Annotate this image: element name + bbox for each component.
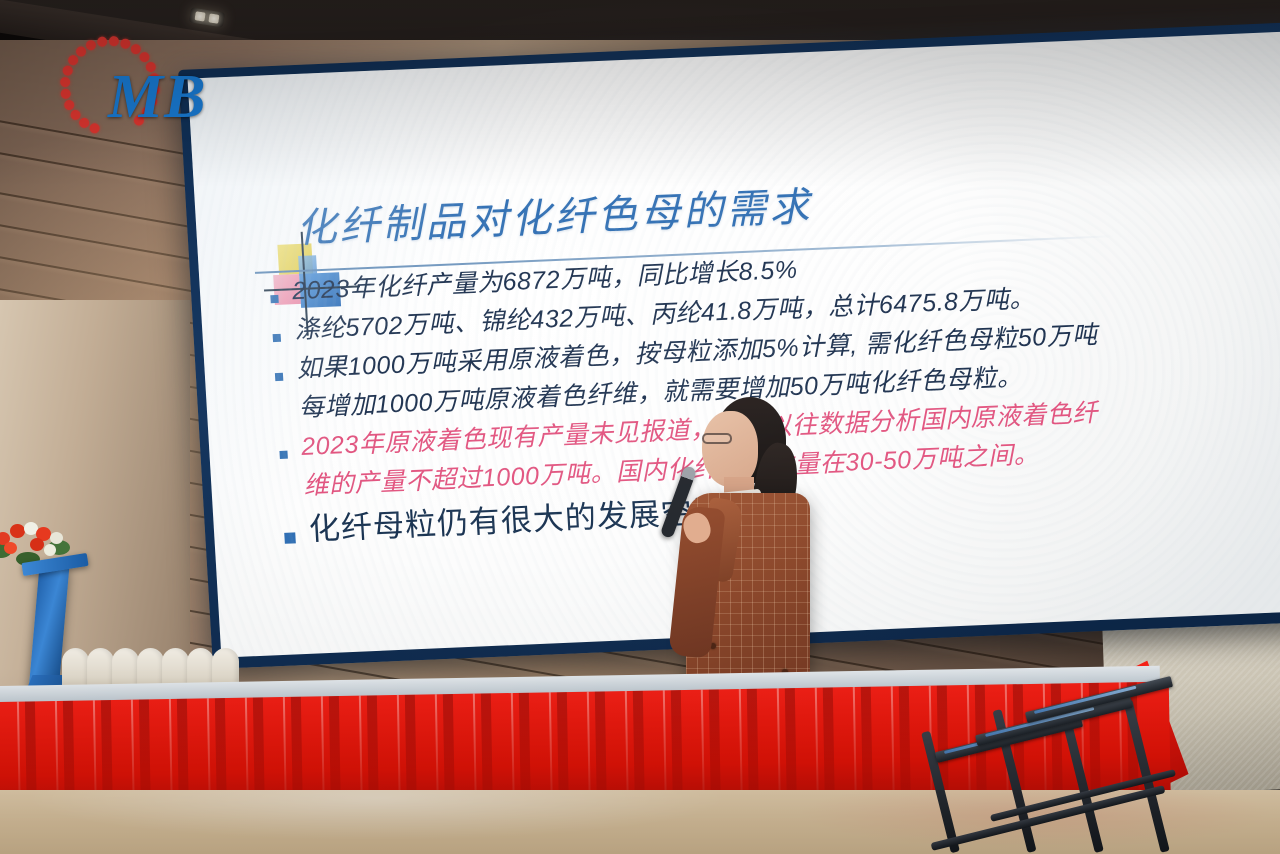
- bullet-marker: [270, 295, 278, 303]
- face: [702, 411, 758, 487]
- bullet-marker-empty: [277, 412, 285, 420]
- cmb-logo-watermark: MB: [60, 36, 228, 140]
- bullet-marker: [275, 373, 283, 381]
- slide-title: 化纤制品对化纤色母的需求: [295, 174, 814, 254]
- bullet-marker-empty: [282, 490, 290, 498]
- ceiling-spotlight: [189, 7, 225, 27]
- glasses: [702, 433, 732, 444]
- bullet-marker: [284, 532, 296, 543]
- logo-text: MB: [108, 62, 206, 133]
- bullet-marker: [279, 451, 287, 459]
- bullet-marker: [273, 334, 281, 342]
- step-ladder: [928, 718, 1228, 854]
- conference-photo-scene: 化纤制品对化纤色母的需求 2023年化纤产量为6872万吨，同比增长8.5% 涤…: [0, 0, 1280, 854]
